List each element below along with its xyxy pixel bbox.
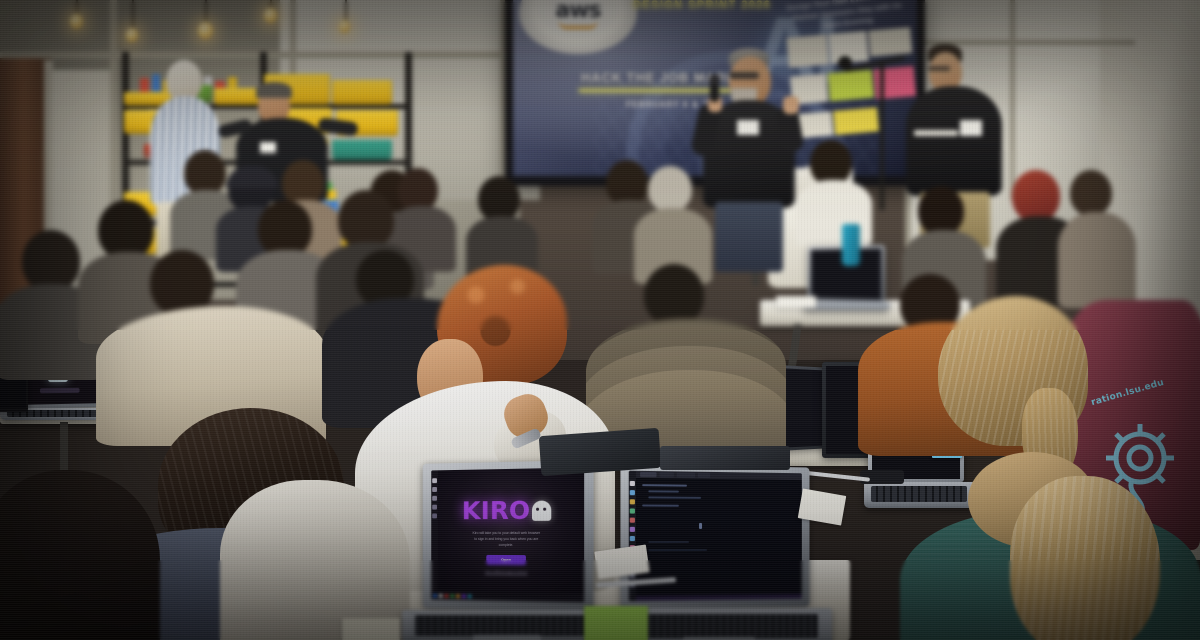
editor-tab-bar[interactable] (636, 471, 802, 480)
hand-right (783, 96, 799, 114)
head-with-beanie (648, 166, 692, 212)
person-foreground-white-sleeve (220, 480, 410, 640)
editor-status-bar[interactable] (636, 594, 802, 601)
laptop-screen-kiro[interactable]: KIRO Kiro will take you to your default … (431, 467, 584, 602)
sticky-note-pad (584, 606, 648, 640)
torso (906, 86, 1002, 196)
name-badge (260, 142, 276, 153)
slide-photo-collage (787, 27, 917, 146)
head (338, 190, 394, 250)
kiro-onboarding: KIRO Kiro will take you to your default … (431, 467, 584, 602)
aws-swoosh-icon (558, 20, 598, 29)
activity-bar[interactable] (431, 470, 438, 599)
name-badge (737, 120, 759, 135)
laptop-closed (660, 446, 790, 470)
headline-underline (579, 89, 747, 92)
head (22, 230, 80, 292)
head (644, 264, 704, 326)
water-bottle (842, 224, 860, 266)
papers (776, 296, 816, 308)
slide-header: DESIGN SPRINT 2026 (633, 0, 771, 11)
person-foreground-dark (0, 470, 160, 640)
torso (1058, 212, 1136, 308)
laptop-keyboard[interactable] (864, 482, 974, 508)
aws-logo: aws (519, 0, 637, 54)
torso (796, 180, 872, 246)
microphone-icon (838, 56, 852, 70)
glasses-icon (729, 72, 759, 79)
microphone-head-icon (709, 74, 720, 84)
microphone-stand (880, 60, 884, 210)
shirt-stripe (914, 130, 958, 136)
kiro-open-button[interactable]: Open (486, 555, 526, 565)
hair (256, 82, 292, 98)
head (1070, 170, 1112, 216)
kiro-alt-signin-link[interactable]: Use a different sign-in method (485, 570, 527, 574)
hair-blonde-wavy (1010, 476, 1160, 640)
kiro-body-text: Kiro will take you to your default web b… (472, 531, 541, 549)
name-badge (960, 120, 982, 136)
kiro-logo-row: KIRO (462, 496, 552, 526)
head-red-hair (1012, 170, 1060, 222)
kiro-wordmark: KIRO (462, 496, 530, 525)
laptop-closed (539, 428, 661, 476)
laptop-keyboard[interactable] (402, 610, 612, 640)
mullion (1010, 0, 1015, 200)
head (918, 186, 964, 236)
paper-stack (342, 618, 400, 640)
legs (715, 202, 783, 272)
head (98, 200, 154, 260)
classroom-photo: AI aws DESIGN SPRINT 2026 HACK THE JOB M… (0, 0, 1200, 640)
editor-button[interactable] (40, 388, 80, 393)
windows-taskbar[interactable] (431, 591, 584, 603)
slide-date: FEBRUARY 6 & 7 (626, 100, 708, 109)
glasses-icon (928, 66, 950, 71)
ghost-icon (532, 500, 551, 520)
